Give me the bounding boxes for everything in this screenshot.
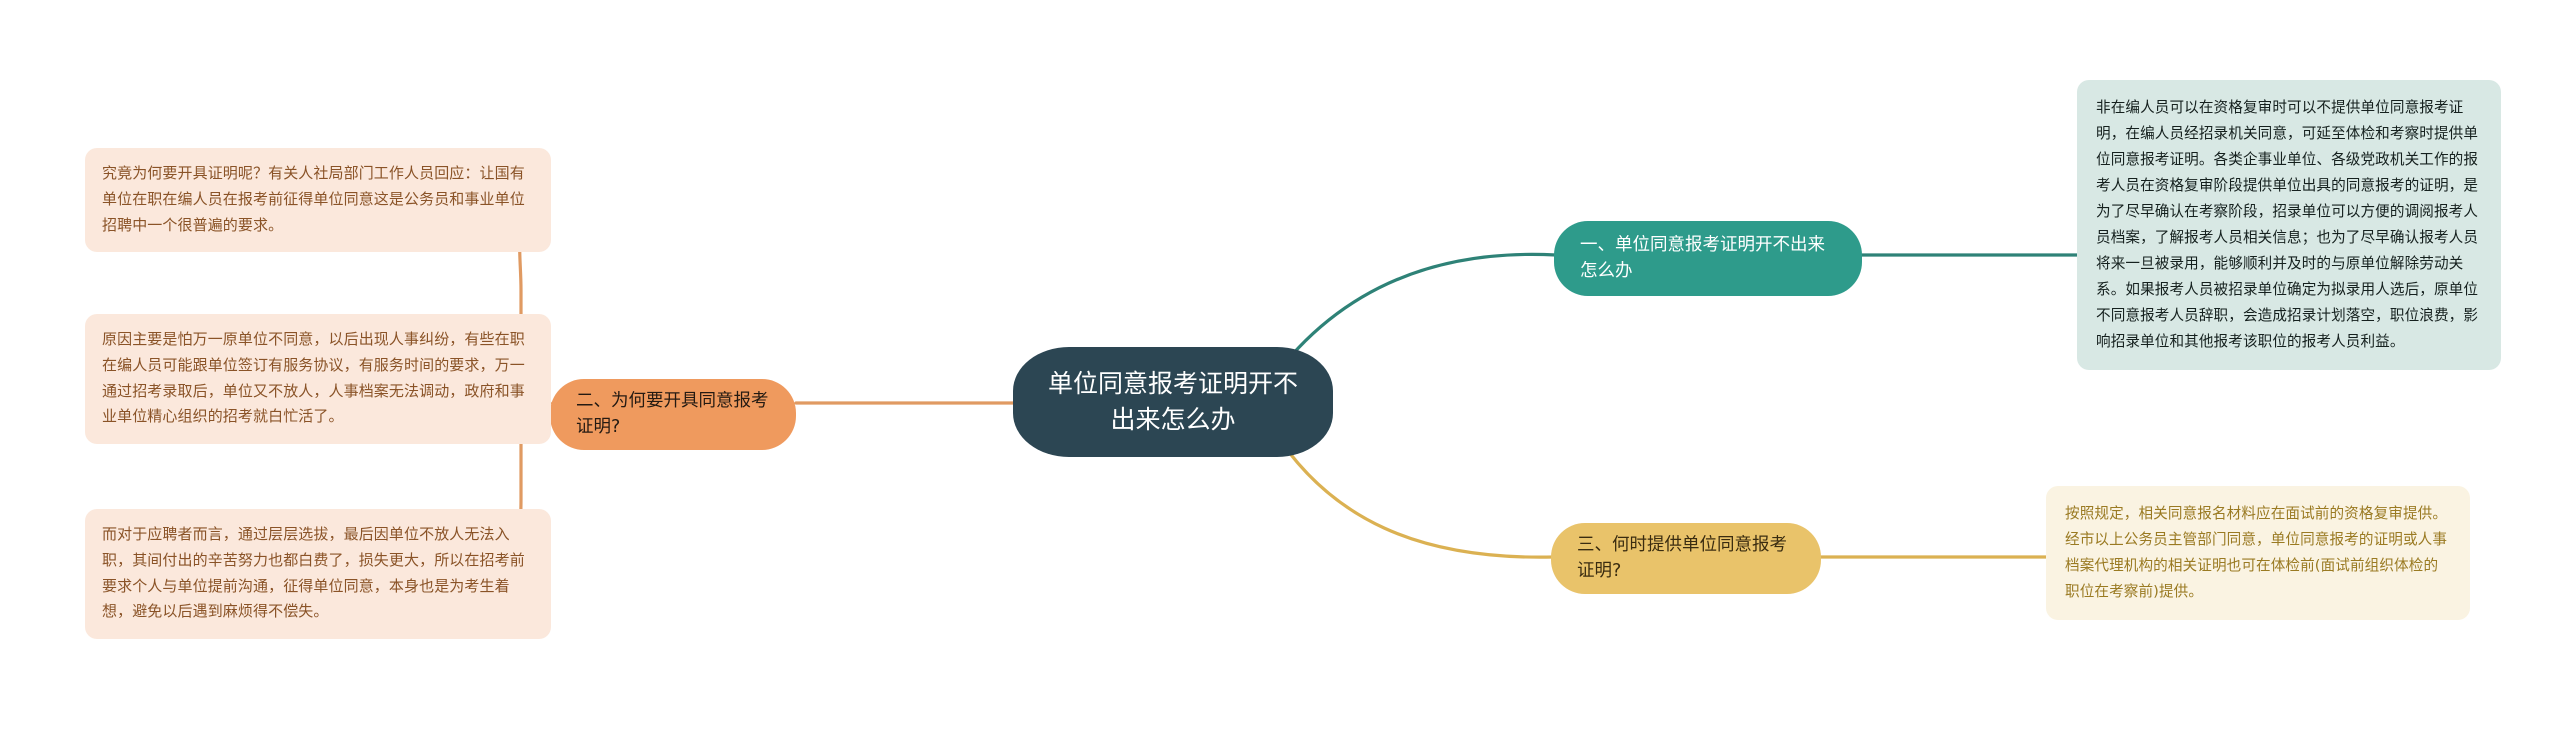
mindmap-canvas: 单位同意报考证明开不出来怎么办 一、单位同意报考证明开不出来怎么办 二、为何要开… (0, 0, 2560, 735)
leaf-card-right-2: 按照规定，相关同意报名材料应在面试前的资格复审提供。经市以上公务员主管部门同意，… (2046, 486, 2470, 620)
branch-node-1[interactable]: 一、单位同意报考证明开不出来怎么办 (1554, 221, 1862, 296)
leaf-card-right-1: 非在编人员可以在资格复审时可以不提供单位同意报考证明，在编人员经招录机关同意，可… (2077, 80, 2501, 370)
leaf-card-left-3: 而对于应聘者而言，通过层层选拔，最后因单位不放人无法入职，其间付出的辛苦努力也都… (85, 509, 551, 639)
leaf-card-left-2: 原因主要是怕万一原单位不同意，以后出现人事纠纷，有些在职在编人员可能跟单位签订有… (85, 314, 551, 444)
branch-node-2[interactable]: 二、为何要开具同意报考证明? (550, 379, 796, 450)
connector-center-to-branch-3 (1272, 428, 1553, 557)
branch-node-2-label: 二、为何要开具同意报考证明? (576, 388, 774, 441)
center-node[interactable]: 单位同意报考证明开不出来怎么办 (1013, 347, 1333, 457)
center-node-label: 单位同意报考证明开不出来怎么办 (1047, 366, 1299, 439)
branch-node-3[interactable]: 三、何时提供单位同意报考证明? (1551, 523, 1821, 594)
branch-node-1-label: 一、单位同意报考证明开不出来怎么办 (1580, 232, 1840, 285)
branch-node-3-label: 三、何时提供单位同意报考证明? (1577, 532, 1799, 585)
leaf-card-left-1: 究竟为何要开具证明呢？有关人社局部门工作人员回应：让国有单位在职在编人员在报考前… (85, 148, 551, 252)
